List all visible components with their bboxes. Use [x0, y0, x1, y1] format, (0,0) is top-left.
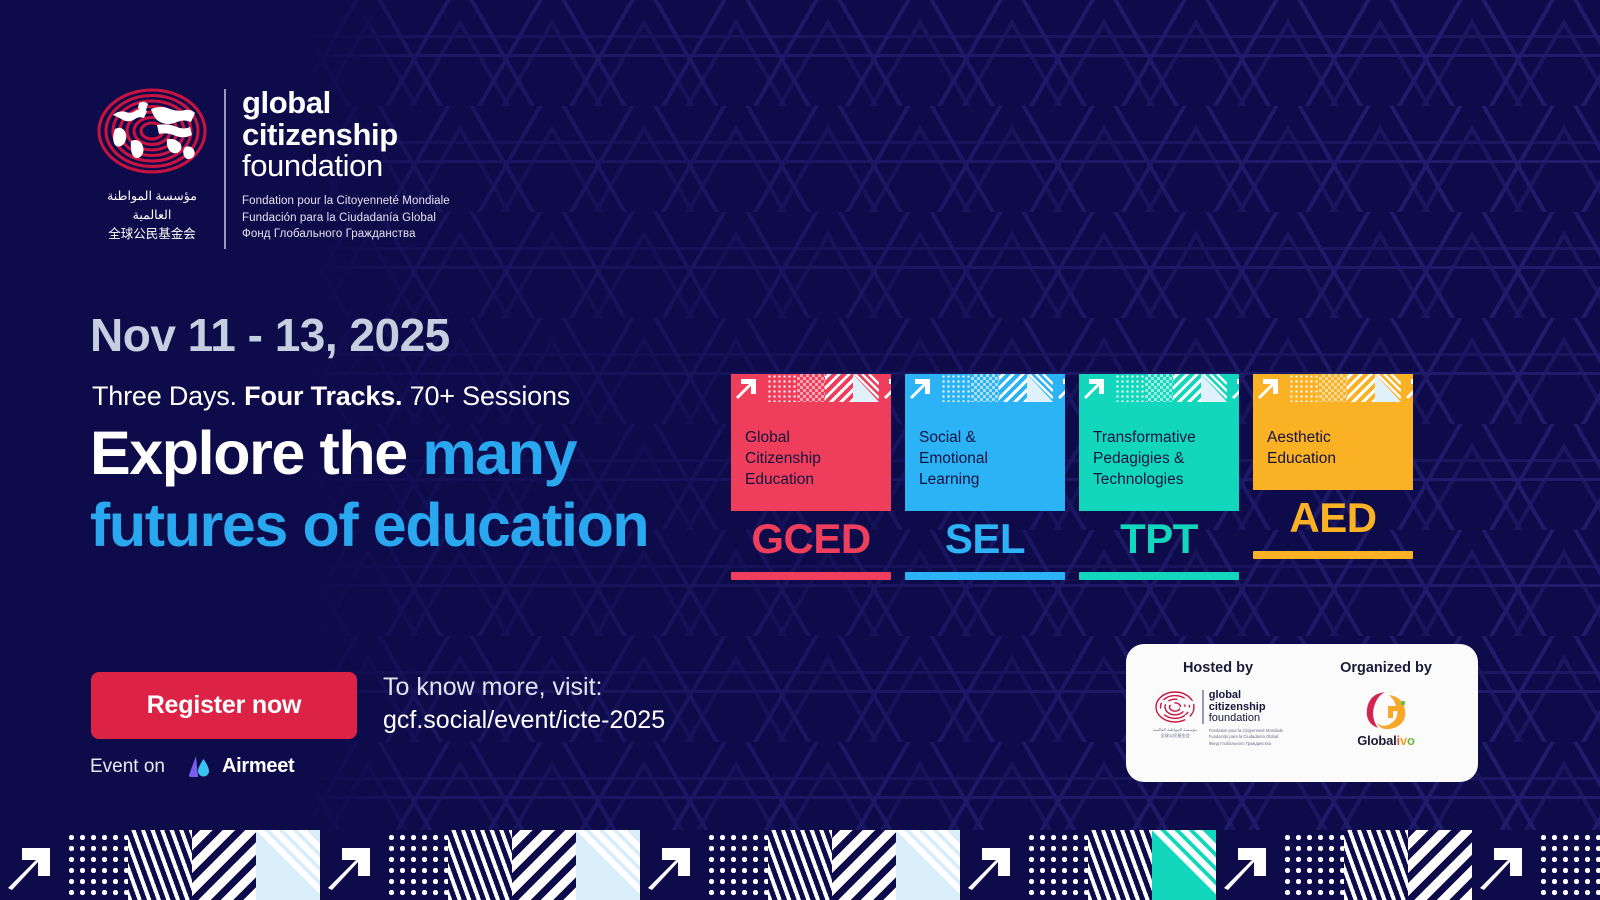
- track-name-sel: Social & Emotional Learning: [919, 428, 1051, 491]
- tile-thin-stripes: [768, 830, 832, 900]
- tile-thick-stripes: [512, 830, 576, 900]
- hosted-logo-scripts: مؤسسة المواطنة العالمية 全球公民基金会: [1153, 727, 1197, 740]
- tile-light-triangle: [576, 830, 640, 900]
- partners-card: Hosted by: [1126, 644, 1478, 782]
- visit-info: To know more, visit: gcf.social/event/ic…: [383, 671, 665, 736]
- airmeet-droplet-icon: [187, 753, 214, 780]
- event-dates: Nov 11 - 13, 2025: [90, 308, 450, 362]
- arrow-icon: [1253, 374, 1283, 402]
- tile-thin-stripes: [128, 830, 192, 900]
- arrow-icon: [0, 830, 64, 900]
- arrow-icon: [879, 374, 891, 402]
- logo-word-foundation: foundation: [242, 150, 450, 182]
- track-body-tpt: Transformative Pedagigies & Technologies: [1079, 402, 1239, 511]
- arrow-icon: [1079, 374, 1109, 402]
- organized-by-label: Organized by: [1340, 660, 1432, 676]
- arrow-icon: [1216, 830, 1280, 900]
- hosted-by-logo: مؤسسة المواطنة العالمية 全球公民基金会 global c…: [1153, 690, 1283, 747]
- mini-fingerprint-globe-icon: [1154, 690, 1196, 724]
- tile-dots: [1289, 374, 1319, 402]
- arrow-icon: [320, 830, 384, 900]
- track-card-aed[interactable]: Aesthetic Education AED: [1253, 374, 1413, 580]
- arrow-icon: [1053, 374, 1065, 402]
- tagline-part-1: Three Days.: [92, 381, 244, 411]
- track-underline-gced: [731, 572, 891, 580]
- hosted-by-column: Hosted by: [1134, 660, 1302, 747]
- organized-by-column: Organized by Globalivo: [1302, 660, 1470, 748]
- bottom-pattern-strip: [0, 830, 1600, 900]
- globalivo-text-global: Global: [1357, 733, 1396, 748]
- globalivo-wordmark: Globalivo: [1357, 733, 1414, 748]
- globalivo-text-o: o: [1407, 733, 1415, 748]
- track-header-pattern-sel: [905, 374, 1065, 402]
- hosted-logo-word-foundation: foundation: [1209, 713, 1283, 725]
- track-header-pattern-gced: [731, 374, 891, 402]
- logo-subtitle-ru: Фонд Глобального Гражданства: [242, 226, 450, 243]
- tile-dots: [384, 830, 448, 900]
- track-header-pattern-aed: [1253, 374, 1413, 402]
- arrow-icon: [640, 830, 704, 900]
- globalivo-logo: Globalivo: [1357, 690, 1414, 748]
- poster-canvas: مؤسسة المواطنة العالمية 全球公民基金会 global c…: [0, 0, 1600, 900]
- tile-thin-stripes: [1088, 830, 1152, 900]
- arrow-icon: [1401, 374, 1413, 402]
- track-underline-tpt: [1079, 572, 1239, 580]
- logo-word-citizenship: citizenship: [242, 119, 450, 151]
- tile-dots: [704, 830, 768, 900]
- event-url[interactable]: gcf.social/event/icte-2025: [383, 704, 665, 737]
- tile-diagonal-stripes: [1173, 374, 1201, 402]
- track-card-gced[interactable]: Global Citizenship Education GCED: [731, 374, 891, 580]
- arrow-icon: [1472, 830, 1536, 900]
- track-card-sel[interactable]: Social & Emotional Learning SEL: [905, 374, 1065, 580]
- event-tagline: Three Days. Four Tracks. 70+ Sessions: [92, 381, 570, 412]
- track-cards: Global Citizenship Education GCED: [731, 374, 1413, 580]
- tagline-part-2: 70+ Sessions: [402, 381, 570, 411]
- tagline-bold-four-tracks: Four Tracks.: [244, 381, 402, 411]
- track-body-aed: Aesthetic Education: [1253, 402, 1413, 490]
- arrow-icon: [905, 374, 935, 402]
- tile-light-triangle: [1201, 374, 1227, 402]
- track-name-gced: Global Citizenship Education: [745, 428, 877, 491]
- logo-subtitle-es: Fundación para la Ciudadanía Global: [242, 210, 450, 227]
- hosted-logo-word-global: global: [1209, 690, 1283, 702]
- tile-thick-stripes: [832, 830, 896, 900]
- tile-light-triangle: [256, 830, 320, 900]
- visit-prompt: To know more, visit:: [383, 671, 665, 704]
- headline-blue-many: many: [422, 419, 576, 487]
- track-body-sel: Social & Emotional Learning: [905, 402, 1065, 511]
- tile-thick-stripes: [1408, 830, 1472, 900]
- tile-diagonal-stripes: [999, 374, 1027, 402]
- tile-dots: [1280, 830, 1344, 900]
- fingerprint-globe-icon: [93, 85, 211, 177]
- tile-thin-stripes: [448, 830, 512, 900]
- tile-thick-stripes: [192, 830, 256, 900]
- register-now-button[interactable]: Register now: [91, 672, 357, 739]
- tile-light-triangle: [1027, 374, 1053, 402]
- page-title: Explore the many futures of education: [90, 418, 730, 562]
- track-name-tpt: Transformative Pedagigies & Technologies: [1093, 428, 1225, 491]
- tile-dots: [1536, 830, 1600, 900]
- tile-checker: [971, 374, 999, 402]
- tile-diagonal-stripes: [825, 374, 853, 402]
- logo-subtitle-fr: Fondation pour la Citoyenneté Mondiale: [242, 193, 450, 210]
- gcf-logo: مؤسسة المواطنة العالمية 全球公民基金会 global c…: [92, 85, 450, 249]
- tile-light-triangle: [1375, 374, 1401, 402]
- tile-dots: [64, 830, 128, 900]
- tile-diagonal-stripes: [1347, 374, 1375, 402]
- track-acronym-sel: SEL: [905, 518, 1065, 560]
- tile-checker: [797, 374, 825, 402]
- hosted-by-label: Hosted by: [1183, 660, 1253, 676]
- tile-checker: [1319, 374, 1347, 402]
- hosted-logo-sublines: Fondation pour la Citoyenneté Mondiale F…: [1209, 728, 1283, 748]
- track-header-pattern-tpt: [1079, 374, 1239, 402]
- logo-script-arabic: مؤسسة المواطنة العالمية: [92, 187, 212, 225]
- arrow-icon: [960, 830, 1024, 900]
- tile-dots: [1115, 374, 1145, 402]
- arrow-icon: [731, 374, 761, 402]
- tile-dots: [1024, 830, 1088, 900]
- tile-checker: [1145, 374, 1173, 402]
- track-acronym-tpt: TPT: [1079, 518, 1239, 560]
- tile-light-triangle: [853, 374, 879, 402]
- airmeet-logo[interactable]: Airmeet: [187, 753, 294, 780]
- globalivo-mark-icon: [1363, 690, 1409, 730]
- track-underline-sel: [905, 572, 1065, 580]
- event-on-label: Event on: [90, 756, 165, 778]
- airmeet-wordmark: Airmeet: [222, 755, 294, 778]
- tile-dots: [767, 374, 797, 402]
- track-body-gced: Global Citizenship Education: [731, 402, 891, 511]
- arrow-icon: [1227, 374, 1239, 402]
- track-underline-aed: [1253, 551, 1413, 559]
- mini-logo-divider: [1202, 690, 1204, 724]
- track-acronym-gced: GCED: [731, 518, 891, 560]
- track-acronym-aed: AED: [1253, 497, 1413, 539]
- tile-light-triangle: [896, 830, 960, 900]
- tile-dots: [941, 374, 971, 402]
- logo-script-chinese: 全球公民基金会: [92, 225, 212, 244]
- headline-blue-futures: futures of education: [90, 491, 648, 559]
- globalivo-text-v: v: [1400, 733, 1407, 748]
- event-platform: Event on Airmeet: [90, 753, 294, 780]
- logo-word-global: global: [242, 87, 450, 119]
- headline-white-segment: Explore the: [90, 419, 422, 487]
- track-name-aed: Aesthetic Education: [1267, 428, 1399, 470]
- tile-teal-triangle: [1152, 830, 1216, 900]
- track-card-tpt[interactable]: Transformative Pedagigies & Technologies…: [1079, 374, 1239, 580]
- tile-thin-stripes: [1344, 830, 1408, 900]
- logo-divider: [224, 89, 226, 249]
